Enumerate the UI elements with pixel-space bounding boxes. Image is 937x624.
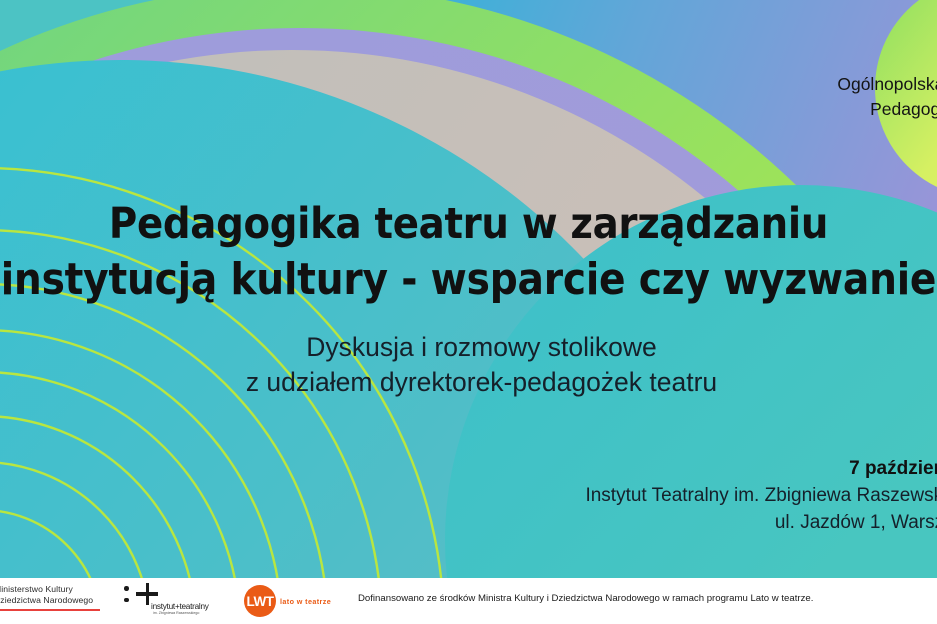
- event-details: 7 października Instytut Teatralny im. Zb…: [339, 455, 937, 536]
- lwt-wordmark: lato w teatrze: [280, 597, 331, 606]
- funding-disclaimer: Dofinansowano ze środków Ministra Kultur…: [358, 593, 813, 604]
- event-venue: Instytut Teatralny im. Zbigniewa Raszews…: [339, 482, 937, 509]
- title-line-1: Pedagogika teatru w zarządzaniu: [0, 196, 937, 252]
- title-line-2: instytucją kultury - wsparcie czy wyzwan…: [0, 252, 937, 308]
- circle-caption: Ogólnopolska Konferencja Pedagogiki Teat…: [820, 72, 937, 122]
- lwt-circle-mark: LWT: [244, 585, 276, 617]
- conference-poster: Ogólnopolska Konferencja Pedagogiki Teat…: [0, 0, 937, 624]
- ministry-logo-text: Ministerstwo Kultury Dziedzictwa Narodow…: [0, 584, 106, 606]
- page-title: Pedagogika teatru w zarządzaniu instytuc…: [0, 196, 937, 308]
- subtitle: Dyskusja i rozmowy stolikowe z udziałem …: [0, 330, 937, 400]
- instytut-teatralny-logo: instytut+teatralny im. Zbigniewa Raszews…: [124, 582, 220, 618]
- event-address: ul. Jazdów 1, Warszawa: [339, 509, 937, 536]
- ministry-logo-rule: [0, 609, 100, 611]
- instytut-teatralny-name: instytut+teatralny: [151, 602, 209, 611]
- lato-w-teatrze-logo: LWT lato w teatrze: [244, 584, 331, 618]
- instytut-teatralny-subtitle: im. Zbigniewa Raszewskiego: [153, 611, 199, 615]
- subtitle-line-1: Dyskusja i rozmowy stolikowe: [0, 330, 937, 365]
- event-date: 7 października: [339, 455, 937, 482]
- two-dots-icon: [124, 586, 129, 609]
- ministry-logo: Ministerstwo Kultury Dziedzictwa Narodow…: [0, 584, 106, 611]
- footer-bar: Ministerstwo Kultury Dziedzictwa Narodow…: [0, 578, 937, 624]
- subtitle-line-2: z udziałem dyrektorek-pedagożek teatru: [0, 365, 937, 400]
